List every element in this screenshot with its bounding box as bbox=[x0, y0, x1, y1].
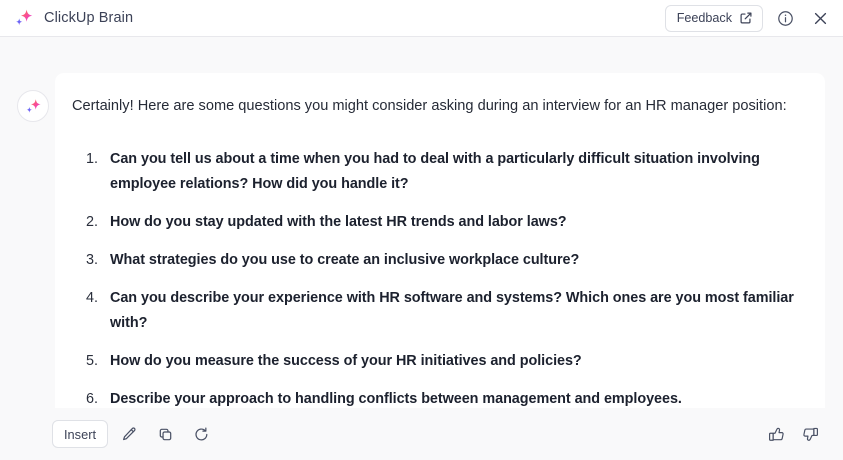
info-button[interactable] bbox=[772, 5, 798, 31]
list-item-number: 4. bbox=[72, 286, 98, 311]
panel-title: ClickUp Brain bbox=[44, 10, 133, 26]
header-actions: Feedback bbox=[665, 5, 833, 32]
feedback-button-label: Feedback bbox=[677, 11, 732, 25]
refresh-icon bbox=[193, 426, 210, 443]
list-item-text: How do you stay updated with the latest … bbox=[110, 210, 567, 235]
regenerate-button[interactable] bbox=[186, 419, 216, 449]
thumbs-up-icon bbox=[768, 426, 785, 443]
toolbar-left-group: Insert bbox=[52, 419, 216, 449]
list-item-number: 3. bbox=[72, 248, 98, 273]
list-item: 1. Can you tell us about a time when you… bbox=[72, 147, 801, 197]
external-link-icon bbox=[739, 11, 753, 25]
pencil-icon bbox=[121, 426, 138, 443]
panel-header: ClickUp Brain Feedback bbox=[0, 0, 843, 37]
clickup-brain-panel: ClickUp Brain Feedback bbox=[0, 0, 843, 460]
list-item-number: 5. bbox=[72, 349, 98, 374]
sparkle-icon bbox=[13, 7, 35, 29]
list-item-text: Can you tell us about a time when you ha… bbox=[110, 147, 801, 197]
list-item-text: Can you describe your experience with HR… bbox=[110, 286, 801, 336]
edit-button[interactable] bbox=[114, 419, 144, 449]
brand: ClickUp Brain bbox=[13, 7, 133, 29]
close-button[interactable] bbox=[807, 5, 833, 31]
list-item-number: 1. bbox=[72, 147, 98, 172]
list-item: 2. How do you stay updated with the late… bbox=[72, 210, 801, 235]
message-intro: Certainly! Here are some questions you m… bbox=[72, 93, 801, 120]
avatar bbox=[17, 90, 49, 122]
copy-button[interactable] bbox=[150, 419, 180, 449]
close-icon bbox=[812, 10, 829, 27]
sparkle-avatar-icon bbox=[24, 97, 43, 116]
thumbs-down-icon bbox=[802, 426, 819, 443]
conversation-area: Certainly! Here are some questions you m… bbox=[0, 37, 843, 460]
list-item: 5. How do you measure the success of you… bbox=[72, 349, 801, 374]
thumbs-up-button[interactable] bbox=[761, 419, 791, 449]
list-item: 4. Can you describe your experience with… bbox=[72, 286, 801, 336]
copy-icon bbox=[157, 426, 174, 443]
question-list: 1. Can you tell us about a time when you… bbox=[72, 147, 801, 412]
info-circle-icon bbox=[777, 10, 794, 27]
feedback-rating-group bbox=[761, 419, 825, 449]
list-item-text: What strategies do you use to create an … bbox=[110, 248, 579, 273]
message-toolbar: Insert bbox=[0, 408, 843, 460]
list-item-text: How do you measure the success of your H… bbox=[110, 349, 582, 374]
thumbs-down-button[interactable] bbox=[795, 419, 825, 449]
insert-button[interactable]: Insert bbox=[52, 420, 108, 448]
feedback-button[interactable]: Feedback bbox=[665, 5, 763, 32]
list-item-number: 2. bbox=[72, 210, 98, 235]
assistant-message: Certainly! Here are some questions you m… bbox=[55, 73, 825, 445]
list-item: 3. What strategies do you use to create … bbox=[72, 248, 801, 273]
